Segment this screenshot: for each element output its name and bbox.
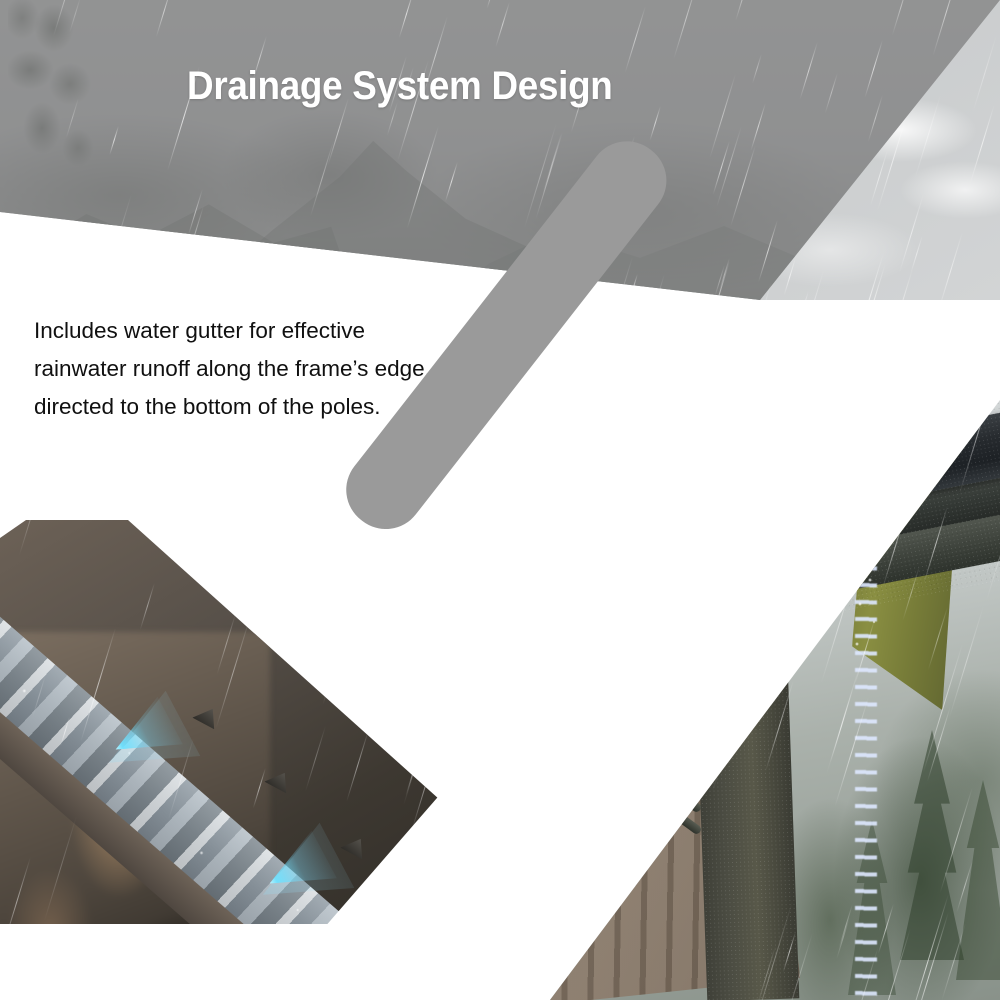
product-feature-slide: Drainage System Design Includes water gu… [0, 0, 1000, 1000]
feature-description: Includes water gutter for effective rain… [34, 312, 504, 426]
description-line-3: directed to the bottom of the poles. [34, 388, 504, 426]
flow-arrow-right-1-ghost [570, 449, 665, 532]
description-line-2: rainwater runoff along the frame’s edge, [34, 350, 504, 388]
flow-arrow-down-1 [741, 633, 805, 683]
rail-bolt-2 [676, 746, 689, 759]
flow-arrow-right-2 [740, 453, 807, 508]
conifer-tree-1 [900, 730, 964, 960]
water-splash-droplets [848, 548, 882, 668]
description-line-1: Includes water gutter for effective [34, 312, 504, 350]
curtain-grommets [409, 565, 737, 650]
corner-post [693, 579, 800, 1000]
rail-bolt-1 [672, 700, 685, 713]
flow-arrow-right-2-ghost [714, 435, 809, 518]
flow-arrow-right-1 [596, 467, 663, 522]
conifer-tree-2 [956, 780, 1000, 980]
page-title: Drainage System Design [32, 64, 768, 109]
header-banner: Drainage System Design [0, 0, 1000, 300]
